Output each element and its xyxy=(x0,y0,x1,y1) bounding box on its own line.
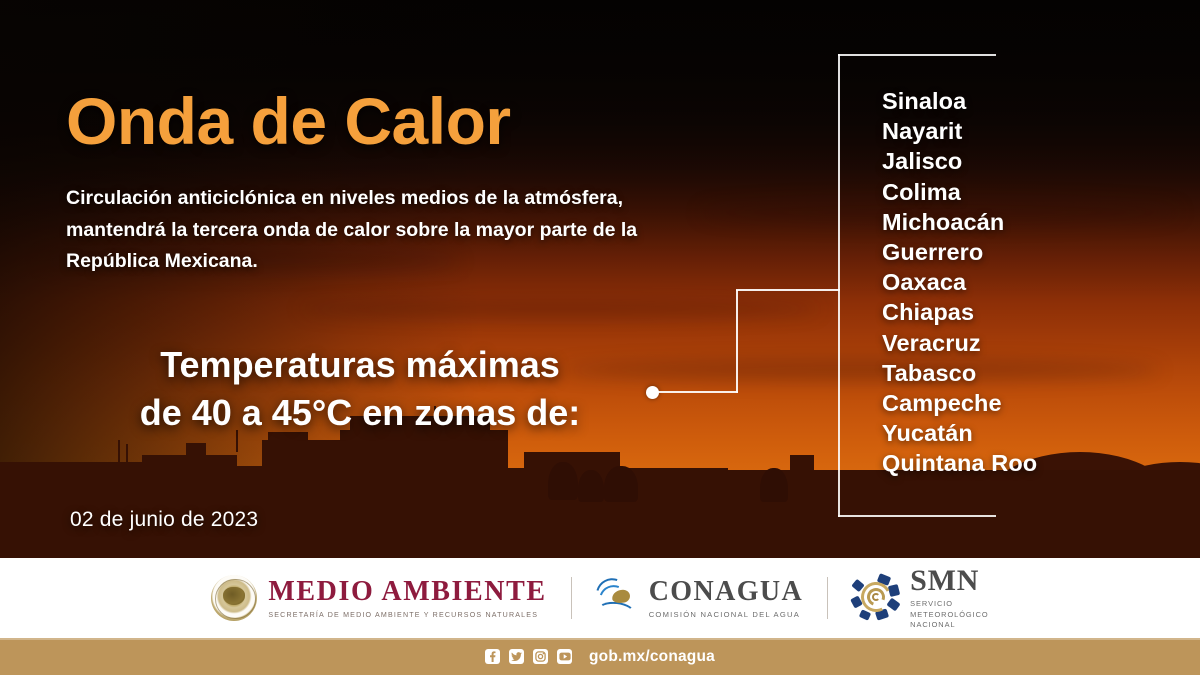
list-item: Veracruz xyxy=(882,328,1182,358)
connector-line-horizontal xyxy=(658,391,738,393)
list-item: Colima xyxy=(882,177,1182,207)
tree-silhouette xyxy=(604,466,638,502)
heat-wave-infographic: Onda de Calor Circulación anticiclónica … xyxy=(0,0,1200,675)
list-item: Jalisco xyxy=(882,146,1182,176)
antenna-silhouette xyxy=(800,470,802,486)
smn-spiral-icon xyxy=(852,575,900,621)
website-url[interactable]: gob.mx/conagua xyxy=(589,648,715,666)
list-item: Sinaloa xyxy=(882,86,1182,116)
building-silhouette xyxy=(186,443,206,473)
temperature-heading-line2: de 40 a 45°C en zonas de: xyxy=(60,389,660,437)
list-item: Chiapas xyxy=(882,297,1182,327)
smn-subtitle-line1: SERVICIO xyxy=(910,599,988,609)
tree-silhouette xyxy=(548,462,578,500)
antenna-silhouette xyxy=(126,444,128,466)
affected-states-list: Sinaloa Nayarit Jalisco Colima Michoacán… xyxy=(882,86,1182,478)
footer-logo-bar: MEDIO AMBIENTE SECRETARÍA DE MEDIO AMBIE… xyxy=(0,558,1200,638)
instagram-icon[interactable] xyxy=(533,649,548,664)
date-label: 02 de junio de 2023 xyxy=(70,508,258,532)
logo-divider xyxy=(827,577,828,619)
twitter-icon[interactable] xyxy=(509,649,524,664)
social-media-bar: gob.mx/conagua xyxy=(0,638,1200,675)
building-silhouette xyxy=(358,468,528,562)
semarnat-subtitle: SECRETARÍA DE MEDIO AMBIENTE Y RECURSOS … xyxy=(268,611,546,619)
facebook-icon[interactable] xyxy=(485,649,500,664)
description-text: Circulación anticiclónica en niveles med… xyxy=(66,183,676,278)
smn-title: SMN xyxy=(910,566,988,597)
building-silhouette xyxy=(340,430,508,478)
state-list-frame-bottom xyxy=(838,515,996,517)
list-item: Nayarit xyxy=(882,116,1182,146)
billboard-silhouette xyxy=(790,455,814,479)
state-list-frame-top xyxy=(838,54,996,56)
state-list-frame-left xyxy=(838,54,840,517)
connector-line-top xyxy=(736,289,840,291)
list-item: Yucatán xyxy=(882,418,1182,448)
list-item: Guerrero xyxy=(882,237,1182,267)
list-item: Quintana Roo xyxy=(882,448,1182,478)
list-item: Tabasco xyxy=(882,358,1182,388)
conagua-eagle-wave-icon xyxy=(596,576,638,620)
page-title: Onda de Calor xyxy=(66,88,511,154)
conagua-subtitle: COMISIÓN NACIONAL DEL AGUA xyxy=(649,610,803,619)
tree-silhouette xyxy=(578,470,604,502)
smn-logo: SMN SERVICIO METEOROLÓGICO NACIONAL xyxy=(852,569,988,627)
conagua-logo: CONAGUA COMISIÓN NACIONAL DEL AGUA xyxy=(596,569,803,627)
list-item: Oaxaca xyxy=(882,267,1182,297)
mexican-coat-of-arms-icon xyxy=(211,575,257,621)
list-item: Michoacán xyxy=(882,207,1182,237)
semarnat-title: MEDIO AMBIENTE xyxy=(268,577,546,606)
temperature-heading-line1: Temperaturas máximas xyxy=(60,341,660,389)
antenna-silhouette xyxy=(118,440,120,466)
logo-divider xyxy=(571,577,572,619)
tree-silhouette xyxy=(760,468,788,502)
conagua-title: CONAGUA xyxy=(649,577,803,606)
list-item: Campeche xyxy=(882,388,1182,418)
smn-subtitle-line2: METEOROLÓGICO xyxy=(910,610,988,620)
temperature-heading: Temperaturas máximas de 40 a 45°C en zon… xyxy=(60,341,660,436)
smn-subtitle-line3: NACIONAL xyxy=(910,620,988,630)
connector-line-vertical xyxy=(736,290,738,393)
youtube-icon[interactable] xyxy=(557,649,572,664)
semarnat-logo: MEDIO AMBIENTE SECRETARÍA DE MEDIO AMBIE… xyxy=(211,569,546,627)
